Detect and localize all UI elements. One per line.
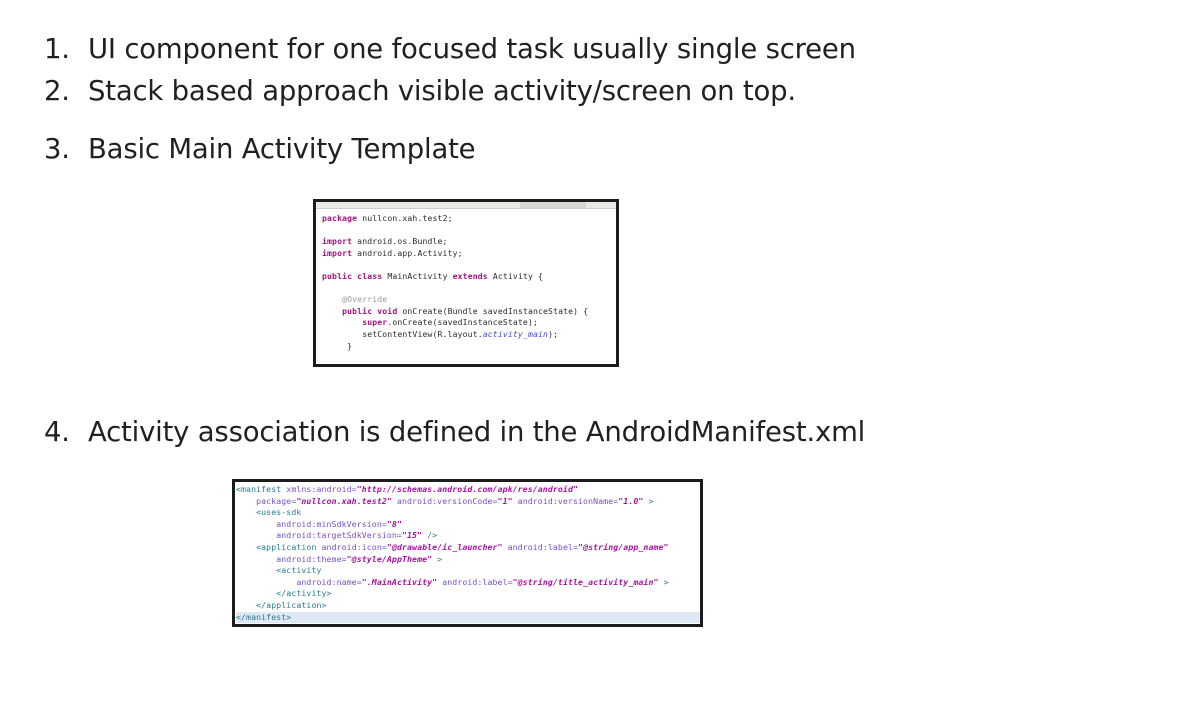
list-item-label: Stack based approach visible activity/sc… bbox=[88, 70, 796, 112]
list-item: 3. Basic Main Activity Template bbox=[44, 128, 1044, 170]
xml-value-package: "nullcon.xah.test2" bbox=[296, 496, 392, 506]
list-item-number: 3. bbox=[44, 128, 88, 170]
xml-attr-name: android:name= bbox=[296, 577, 361, 587]
list-item-number: 2. bbox=[44, 70, 88, 112]
xml-value-icon: "@drawable/ic_launcher" bbox=[387, 542, 503, 552]
xml-line: </activity> bbox=[236, 588, 700, 600]
xml-value-versionname: "1.0" bbox=[618, 496, 643, 506]
xml-attr-targetsdk: android:targetSdkVersion= bbox=[276, 530, 402, 540]
java-method-close-brace: } bbox=[347, 341, 352, 351]
java-super-call: .onCreate(savedInstanceState); bbox=[387, 317, 538, 327]
java-keyword-import: import bbox=[322, 248, 352, 258]
list-item-label: Basic Main Activity Template bbox=[88, 128, 475, 170]
list-item: 1. UI component for one focused task usu… bbox=[44, 28, 1044, 70]
java-package-name: nullcon.xah.test2; bbox=[362, 213, 452, 223]
list-item-label: Activity association is defined in the A… bbox=[88, 411, 865, 453]
xml-value-minsdk: "8" bbox=[387, 519, 402, 529]
xml-attr-label: android:label= bbox=[437, 577, 512, 587]
xml-tag-manifest-close: </manifest> bbox=[236, 612, 291, 622]
xml-line: </application> bbox=[236, 600, 700, 612]
list-item-number: 1. bbox=[44, 28, 88, 70]
java-superclass: Activity { bbox=[493, 271, 543, 281]
xml-line: android:minSdkVersion="8" bbox=[236, 519, 700, 531]
xml-tag-manifest: <manifest bbox=[236, 484, 281, 494]
list-item: 4. Activity association is defined in th… bbox=[44, 411, 1044, 453]
java-code-content: package nullcon.xah.test2; import androi… bbox=[316, 209, 616, 367]
xml-line: android:name=".MainActivity" android:lab… bbox=[236, 577, 700, 589]
xml-tag-activity-close: </activity> bbox=[276, 588, 331, 598]
java-keyword-extends: extends bbox=[453, 271, 488, 281]
xml-attr-label: android:label= bbox=[503, 542, 578, 552]
xml-attr-versioncode: android:versionCode= bbox=[392, 496, 498, 506]
xml-line: android:targetSdkVersion="15" /> bbox=[236, 530, 700, 542]
xml-gt: > bbox=[659, 577, 669, 587]
java-import-activity: android.app.Activity; bbox=[357, 248, 462, 258]
xml-value-name: ".MainActivity" bbox=[362, 577, 437, 587]
xml-line: <activity bbox=[236, 565, 700, 577]
xml-line: <manifest xmlns:android="http://schemas.… bbox=[236, 484, 700, 496]
list-item-label: UI component for one focused task usuall… bbox=[88, 28, 856, 70]
editor-strip-nub bbox=[520, 202, 586, 208]
xml-value-targetsdk: "15" bbox=[402, 530, 422, 540]
xml-tag-activity: <activity bbox=[276, 565, 321, 575]
java-class-close-brace: } bbox=[322, 364, 327, 367]
java-keyword-public: public bbox=[342, 306, 372, 316]
java-keyword-public: public bbox=[322, 271, 352, 281]
xml-gt: > bbox=[432, 554, 442, 564]
xml-attr-minsdk: android:minSdkVersion= bbox=[276, 519, 387, 529]
java-method-signature: onCreate(Bundle savedInstanceState) { bbox=[402, 306, 588, 316]
xml-tag-usessdk: <uses-sdk bbox=[256, 507, 301, 517]
java-setcontentview-tail: ); bbox=[548, 329, 558, 339]
java-annotation-override: @Override bbox=[342, 294, 387, 304]
java-setcontentview-call: setContentView(R.layout. bbox=[362, 329, 483, 339]
xml-attr-package: package= bbox=[256, 496, 296, 506]
java-import-bundle: android.os.Bundle; bbox=[357, 236, 447, 246]
xml-value-theme: "@style/AppTheme" bbox=[347, 554, 433, 564]
java-keyword-super: super bbox=[362, 317, 387, 327]
xml-line: <application android:icon="@drawable/ic_… bbox=[236, 542, 700, 554]
xml-line: package="nullcon.xah.test2" android:vers… bbox=[236, 496, 700, 508]
xml-value-titleactivity: "@string/title_activity_main" bbox=[513, 577, 659, 587]
java-keyword-import: import bbox=[322, 236, 352, 246]
java-code-screenshot: package nullcon.xah.test2; import androi… bbox=[313, 199, 619, 367]
java-keyword-void: void bbox=[377, 306, 397, 316]
xml-value-appname: "@string/app_name" bbox=[578, 542, 669, 552]
bullet-list-continued: 4. Activity association is defined in th… bbox=[44, 411, 1044, 453]
list-item-number: 4. bbox=[44, 411, 88, 453]
xml-selfclose: /> bbox=[422, 530, 437, 540]
xml-attr-xmlns: xmlns:android= bbox=[281, 484, 356, 494]
xml-attr-versionname: android:versionName= bbox=[513, 496, 619, 506]
xml-attr-theme: android:theme= bbox=[276, 554, 346, 564]
xml-line: android:theme="@style/AppTheme" > bbox=[236, 554, 700, 566]
xml-tag-application: <application bbox=[256, 542, 316, 552]
editor-top-strip bbox=[316, 202, 616, 209]
xml-value-versioncode: "1" bbox=[498, 496, 513, 506]
xml-value-xmlns: "http://schemas.android.com/apk/res/andr… bbox=[357, 484, 578, 494]
xml-tag-application-close: </application> bbox=[256, 600, 326, 610]
xml-line-selected: </manifest> bbox=[236, 612, 700, 624]
java-keyword-package: package bbox=[322, 213, 357, 223]
list-item: 2. Stack based approach visible activity… bbox=[44, 70, 1044, 112]
xml-attr-icon: android:icon= bbox=[316, 542, 386, 552]
java-layout-field: activity_main bbox=[483, 329, 548, 339]
xml-code-content: <manifest xmlns:android="http://schemas.… bbox=[235, 482, 700, 623]
xml-gt: > bbox=[643, 496, 653, 506]
bullet-list: 1. UI component for one focused task usu… bbox=[44, 28, 1044, 170]
java-class-name: MainActivity bbox=[387, 271, 447, 281]
manifest-xml-screenshot: <manifest xmlns:android="http://schemas.… bbox=[232, 479, 703, 627]
xml-line: <uses-sdk bbox=[236, 507, 700, 519]
java-keyword-class: class bbox=[357, 271, 382, 281]
